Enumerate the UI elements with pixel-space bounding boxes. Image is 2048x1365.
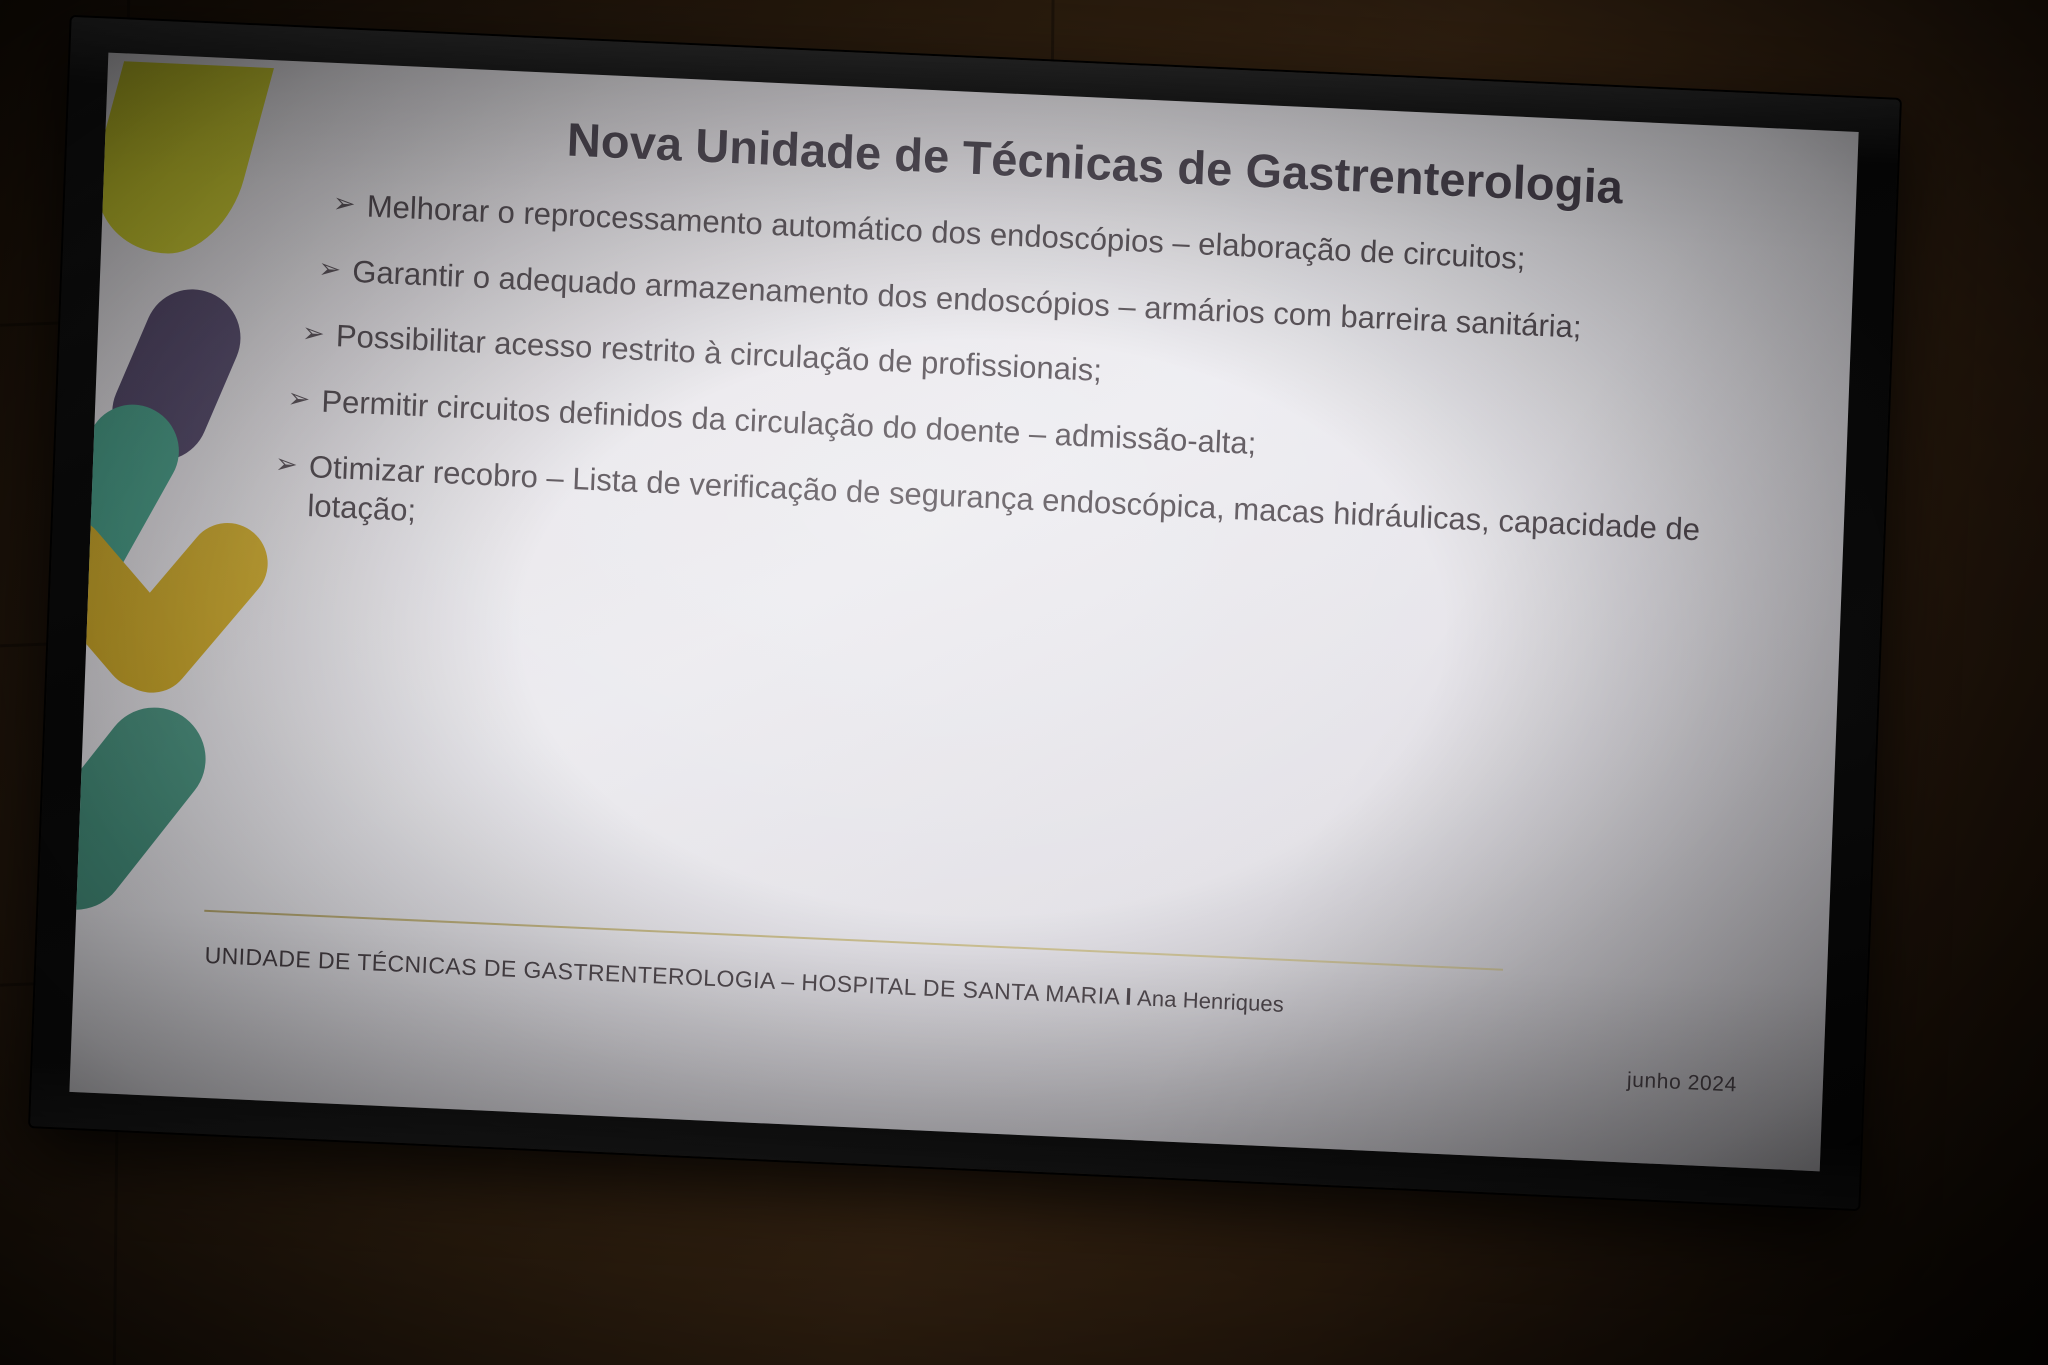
footer-date: junho 2024 — [1627, 1069, 1738, 1098]
arrow-bullet-icon: ➢ — [332, 185, 367, 223]
projection-screen-surface: Nova Unidade de Técnicas de Gastrenterol… — [69, 53, 1858, 1172]
footer-unit-label: UNIDADE DE TÉCNICAS DE GASTRENTEROLOGIA … — [204, 942, 1121, 1010]
projection-screen-assembly: Nova Unidade de Técnicas de Gastrenterol… — [30, 17, 1900, 1209]
bullet-list: ➢ Melhorar o reprocessamento automático … — [280, 183, 1732, 616]
arrow-bullet-icon: ➢ — [301, 315, 336, 353]
arrow-bullet-icon: ➢ — [287, 380, 322, 418]
footer-separator: l — [1120, 983, 1138, 1010]
footer-author: Ana Henriques — [1137, 985, 1285, 1017]
slide-content: Nova Unidade de Técnicas de Gastrenterol… — [69, 53, 1858, 1172]
arrow-bullet-icon: ➢ — [318, 250, 353, 288]
arrow-bullet-icon: ➢ — [274, 445, 309, 483]
room-wall: Nova Unidade de Técnicas de Gastrenterol… — [0, 0, 2048, 1365]
